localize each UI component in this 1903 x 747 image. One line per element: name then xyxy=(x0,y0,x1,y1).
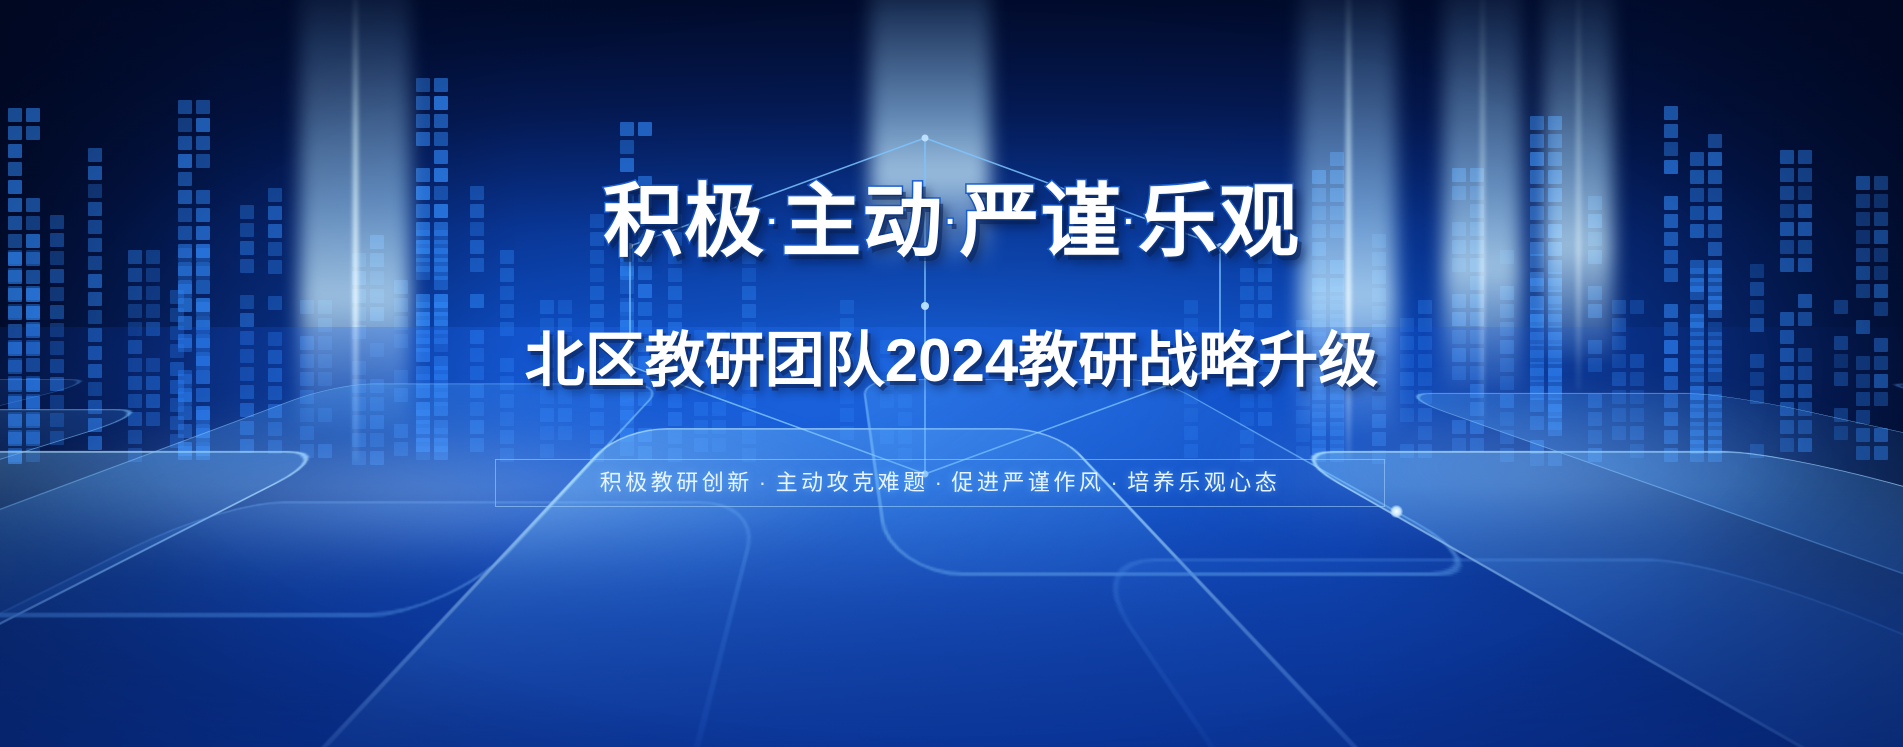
tagline-text: 积极教研创新·主动攻克难题·促进严谨作风·培养乐观心态 xyxy=(600,471,1281,495)
title-separator-1: · xyxy=(767,203,779,241)
tagline-item-1: 积极教研创新 xyxy=(600,470,753,495)
title-separator-3: · xyxy=(1124,203,1136,241)
page-title: 积极·主动·严谨·乐观 xyxy=(0,176,1903,274)
tagline-frame: 积极教研创新·主动攻克难题·促进严谨作风·培养乐观心态 xyxy=(495,459,1385,507)
title-separator-2: · xyxy=(945,203,957,241)
tagline-separator-1: · xyxy=(759,470,770,495)
tagline-item-3: 促进严谨作风 xyxy=(951,470,1104,495)
tagline-separator-3: · xyxy=(1110,470,1121,495)
banner-content: 积极·主动·严谨·乐观 北区教研团队2024教研战略升级 积极教研创新·主动攻克… xyxy=(0,0,1903,747)
page-subtitle: 北区教研团队2024教研战略升级 xyxy=(0,326,1903,396)
tagline-item-4: 培养乐观心态 xyxy=(1127,470,1280,495)
tagline-separator-2: · xyxy=(935,470,946,495)
title-word-2: 主动 xyxy=(781,177,943,266)
tagline-item-2: 主动攻克难题 xyxy=(776,470,929,495)
title-word-4: 乐观 xyxy=(1138,177,1300,266)
tech-conference-banner: 积极·主动·严谨·乐观 北区教研团队2024教研战略升级 积极教研创新·主动攻克… xyxy=(0,0,1903,747)
title-word-3: 严谨 xyxy=(960,177,1122,266)
title-word-1: 积极 xyxy=(603,177,765,266)
